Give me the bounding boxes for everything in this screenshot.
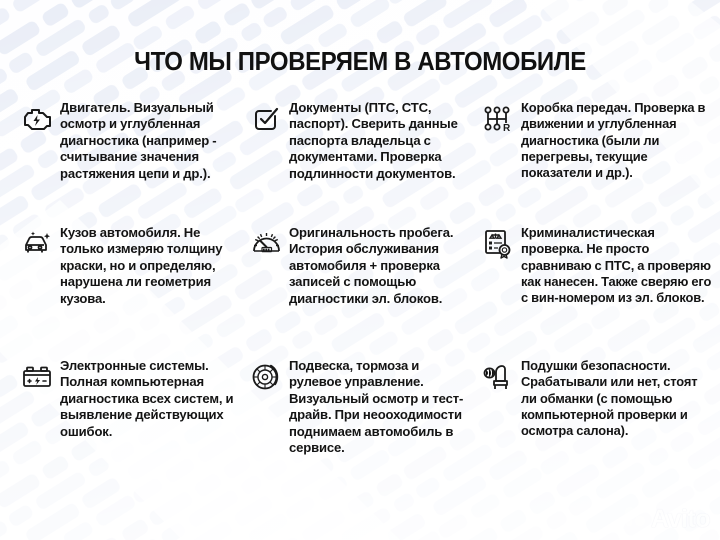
airbag-seat-icon	[481, 360, 515, 394]
checklist-item-text: Подушки безопасности. Срабатывали или не…	[521, 358, 714, 439]
document-seal-icon	[481, 227, 515, 261]
infographic-root: ЧТО МЫ ПРОВЕРЯЕМ В АВТОМОБИЛЕ Двигатель.…	[0, 0, 720, 540]
checklist-item-body: Визуальный осмотр и тест-драйв. При неоо…	[289, 391, 463, 455]
checklist-row: Двигатель. Визуальный осмотр и углубленн…	[0, 100, 720, 225]
checklist-item-gearbox: R Коробка передач. Проверка в движении и…	[477, 100, 720, 225]
brake-disc-icon	[249, 360, 283, 394]
checklist-item-mileage: Оригинальность пробега. История обслужив…	[245, 225, 477, 358]
checklist-item-text: Документы (ПТС, СТС, паспорт). Сверить д…	[289, 100, 471, 182]
odometer-gauge-icon	[249, 227, 283, 261]
checklist-item-forensic: Криминалистическая проверка. Не просто с…	[477, 225, 720, 358]
checklist-grid: Двигатель. Визуальный осмотр и углубленн…	[0, 100, 720, 498]
checklist-item-body: История обслуживания автомобиля + провер…	[289, 241, 442, 305]
checklist-item-term: Коробка передач.	[521, 100, 631, 115]
checklist-item-text: Оригинальность пробега. История обслужив…	[289, 225, 471, 307]
checklist-item-engine: Двигатель. Визуальный осмотр и углубленн…	[0, 100, 245, 225]
checklist-row: Электронные системы. Полная компьютерная…	[0, 358, 720, 498]
checklist-item-documents: Документы (ПТС, СТС, паспорт). Сверить д…	[245, 100, 477, 225]
checklist-row: Кузов автомобиля. Не только измеряю толщ…	[0, 225, 720, 358]
checklist-item-body: Кузов автомобиля. Не только измеряю толщ…	[0, 225, 245, 358]
checklist-item-text: Криминалистическая проверка. Не просто с…	[521, 225, 714, 306]
car-front-sparkle-icon	[20, 227, 54, 261]
avito-dots-icon	[623, 505, 649, 534]
car-battery-icon	[20, 360, 54, 394]
checklist-item-term: Подвеска, тормоза и рулевое управление.	[289, 358, 424, 389]
checklist-item-term: Оригинальность пробега.	[289, 225, 453, 240]
checklist-item-text: Подвеска, тормоза и рулевое управление. …	[289, 358, 471, 457]
checklist-item-text: Двигатель. Визуальный осмотр и углубленн…	[60, 100, 239, 182]
checklist-item-term: Двигатель.	[60, 100, 130, 115]
checklist-item-term: Кузов автомобиля.	[60, 225, 181, 240]
checklist-item-text: Кузов автомобиля. Не только измеряю толщ…	[60, 225, 239, 307]
avito-watermark: Avito	[623, 505, 710, 534]
engine-check-icon	[20, 102, 54, 136]
avito-brand-text: Avito	[651, 505, 710, 534]
checklist-item-body: Срабатывали или нет, стоят ли обманки (с…	[521, 374, 697, 438]
checkbox-check-icon	[249, 102, 283, 136]
svg-text:R: R	[503, 123, 511, 133]
page-title: ЧТО МЫ ПРОВЕРЯЕМ В АВТОМОБИЛЕ	[22, 48, 699, 77]
checklist-item-electronics: Электронные системы. Полная компьютерная…	[0, 358, 245, 498]
checklist-item-term: Электронные системы.	[60, 358, 209, 373]
checklist-item-text: Электронные системы. Полная компьютерная…	[60, 358, 239, 440]
checklist-item-suspension: Подвеска, тормоза и рулевое управление. …	[245, 358, 477, 498]
checklist-item-body: Полная компьютерная диагностика всех сис…	[60, 374, 233, 438]
checklist-item-term: Подушки безопасности.	[521, 358, 670, 373]
checklist-item-airbags: Подушки безопасности. Срабатывали или не…	[477, 358, 720, 498]
gear-shifter-icon: R	[481, 102, 515, 136]
checklist-item-text: Коробка передач. Проверка в движении и у…	[521, 100, 714, 181]
